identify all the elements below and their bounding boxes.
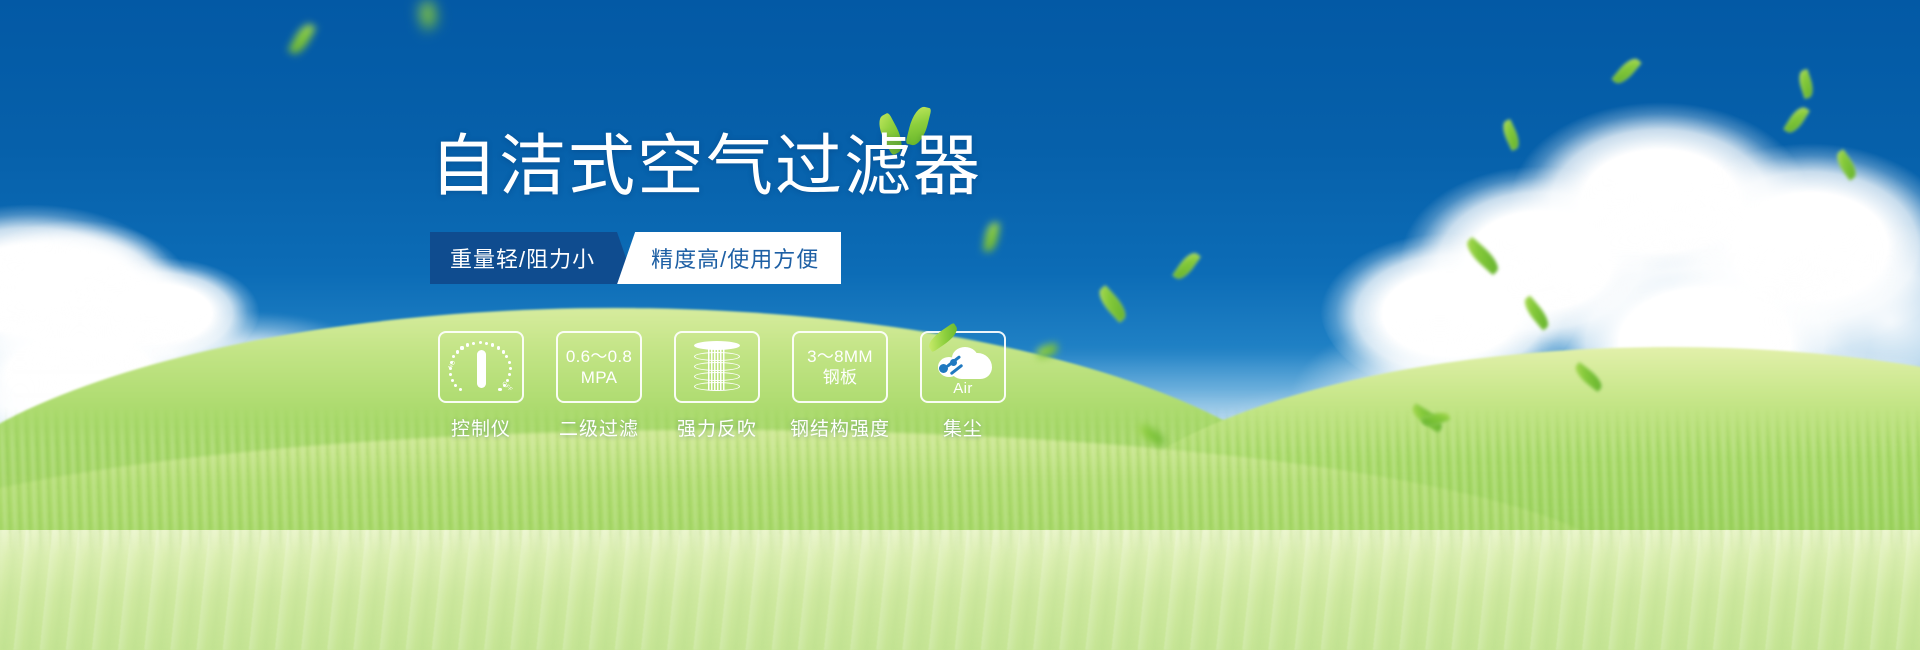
steel-value-line1: 3～8MM: [807, 346, 873, 367]
gauge-label-off: OFF: [501, 381, 514, 393]
feature-caption-control: 控制仪: [451, 414, 511, 441]
filter-cartridge-icon: [692, 340, 742, 394]
air-label: Air: [932, 380, 994, 397]
pressure-value-line2: MPA: [581, 367, 617, 388]
feature-caption-steel: 钢结构强度: [790, 414, 890, 441]
leaf-icon: [925, 323, 960, 353]
steel-value-line2: 钢板: [823, 367, 858, 388]
feature-box-backblow: [674, 331, 760, 403]
tab-feature-1[interactable]: 重量轻/阻力小: [430, 232, 617, 284]
pressure-value-line1: 0.6～0.8: [566, 346, 632, 367]
cartridge-ring: [694, 352, 740, 361]
tab-feature-1-label: 重量轻/阻力小: [450, 242, 595, 274]
subtitle-tabs: 重量轻/阻力小 精度高/使用方便: [430, 232, 841, 284]
hero-banner: 自洁式空气过滤器 重量轻/阻力小 精度高/使用方便: [0, 0, 1920, 650]
feature-caption-pressure: 二级过滤: [559, 414, 639, 441]
feature-box-control: NO OFF: [438, 331, 524, 403]
feature-box-steel: 3～8MM 钢板: [792, 331, 888, 403]
feature-item-backblow[interactable]: 强力反吹: [674, 331, 760, 441]
cartridge-ring: [694, 341, 740, 350]
cartridge-ring: [694, 362, 740, 371]
feature-item-dust[interactable]: Air 集尘: [920, 331, 1006, 441]
tab-feature-2-label: 精度高/使用方便: [651, 242, 819, 274]
air-cloud-icon: Air: [932, 341, 994, 393]
banner-content: 自洁式空气过滤器 重量轻/阻力小 精度高/使用方便: [0, 0, 1920, 650]
page-title: 自洁式空气过滤器: [430, 133, 982, 200]
gauge-needle: [477, 350, 486, 388]
feature-item-pressure[interactable]: 0.6～0.8 MPA 二级过滤: [556, 331, 642, 441]
cartridge-ring: [694, 372, 740, 381]
gauge-icon: NO OFF: [450, 340, 512, 394]
feature-icon-row: NO OFF 控制仪 0.6～0.8 MPA 二级过滤: [438, 331, 1006, 441]
feature-caption-dust: 集尘: [943, 414, 983, 441]
feature-caption-backblow: 强力反吹: [677, 414, 757, 441]
feature-item-control[interactable]: NO OFF 控制仪: [438, 331, 524, 441]
tab-feature-2[interactable]: 精度高/使用方便: [617, 232, 841, 284]
feature-item-steel[interactable]: 3～8MM 钢板 钢结构强度: [792, 331, 888, 441]
feature-box-dust: Air: [920, 331, 1006, 403]
cartridge-ring: [694, 382, 740, 391]
feature-box-pressure: 0.6～0.8 MPA: [556, 331, 642, 403]
